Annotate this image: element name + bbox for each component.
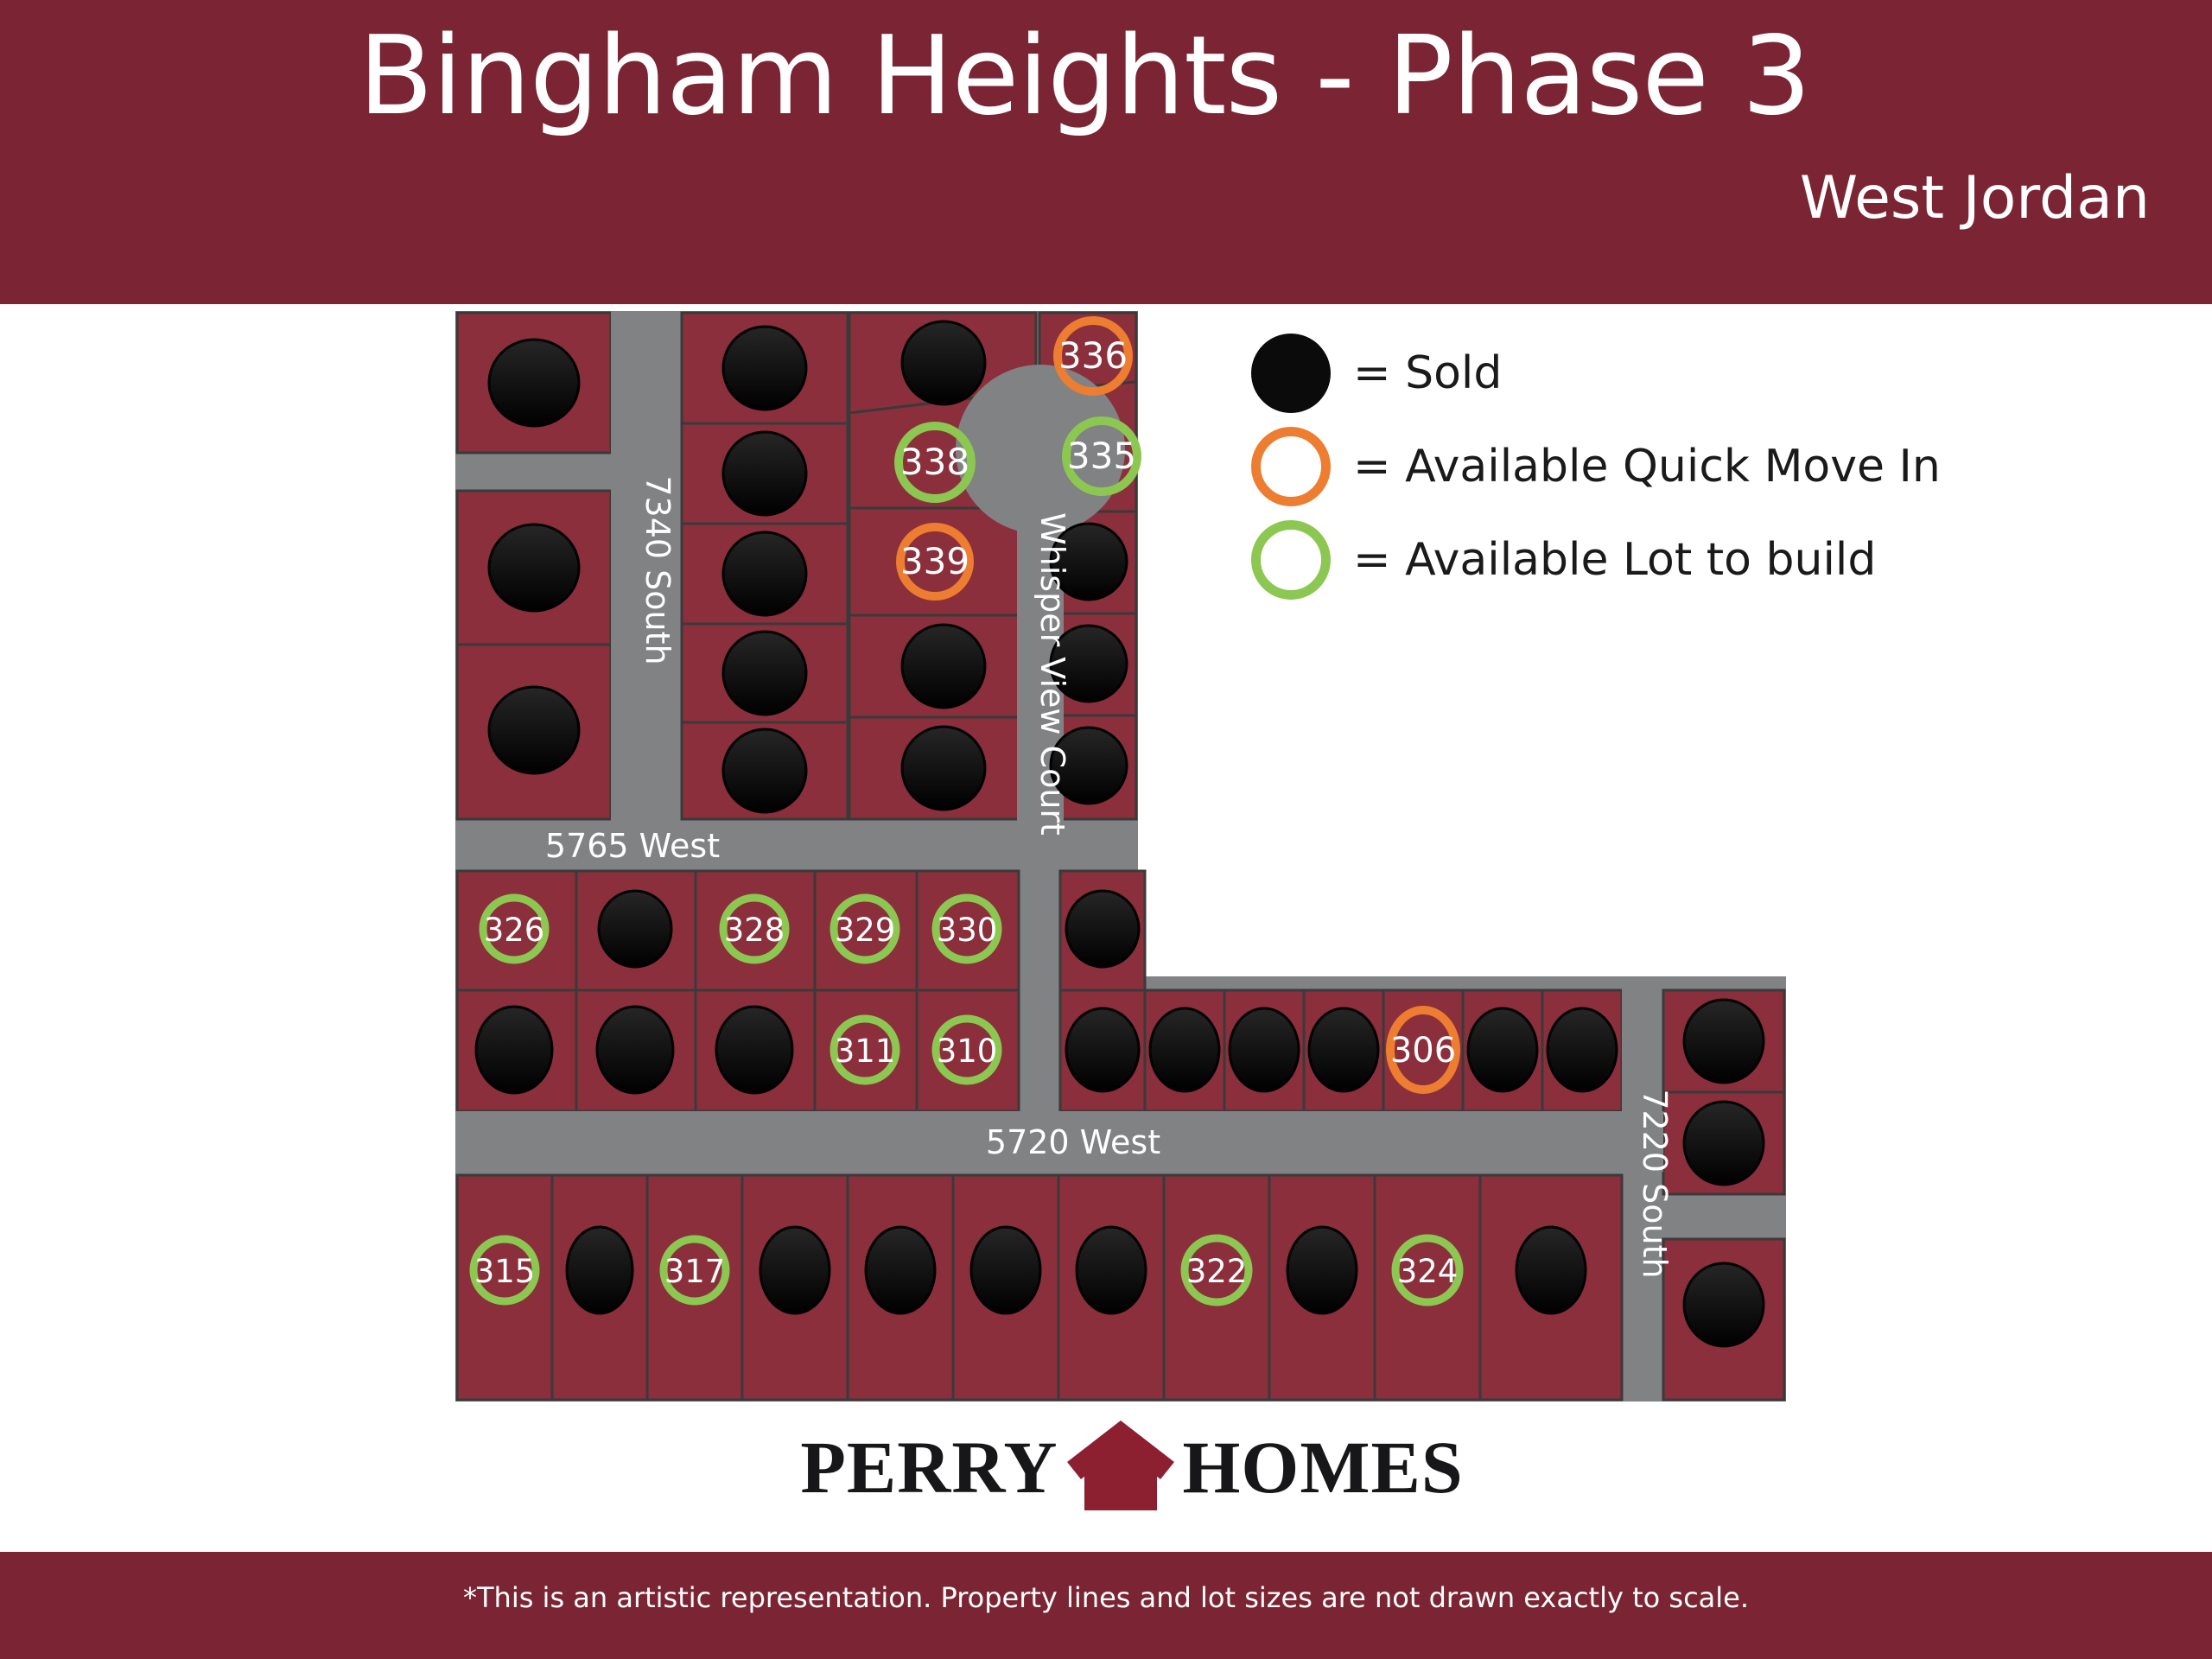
lot-marker-sold (716, 1007, 792, 1093)
lot-marker-sold (902, 321, 985, 404)
page-subtitle: West Jordan (1800, 164, 2150, 232)
lot-marker-sold (1548, 1008, 1617, 1091)
lot-label-306: 306 (1390, 1031, 1456, 1071)
page-header: Bingham Heights - Phase 3 West Jordan (0, 0, 2212, 304)
lot-marker-sold (1287, 1227, 1357, 1313)
lot-marker-sold (567, 1227, 632, 1313)
lot-label-322: 322 (1186, 1253, 1248, 1290)
logo-word-homes: HOMES (1183, 1424, 1464, 1510)
lot-marker-sold (723, 327, 806, 410)
lot-marker-sold (489, 524, 579, 611)
lot-marker-sold (723, 432, 806, 515)
lot-label-328: 328 (724, 912, 785, 949)
lot-marker-sold (1150, 1008, 1219, 1091)
lot-marker-sold (902, 625, 985, 708)
street-label-5720-west: 5720 West (986, 1123, 1160, 1161)
lot-marker-sold (1684, 1263, 1764, 1346)
lot-marker-sold (1516, 1227, 1586, 1313)
lot-marker-sold (597, 1007, 673, 1093)
lot-marker-sold (1684, 1102, 1764, 1185)
lot-marker-sold (723, 729, 806, 812)
footer-disclaimer: *This is an artistic representation. Pro… (0, 1581, 2212, 1614)
lot-marker-sold (599, 891, 671, 967)
page-footer: *This is an artistic representation. Pro… (0, 1552, 2212, 1659)
street-label-7220-south: 7220 South (1636, 1089, 1674, 1278)
lot-marker-sold (723, 632, 806, 715)
lot-label-315: 315 (474, 1253, 536, 1290)
street-label-whisper-view-court: Whisper View Court (1033, 512, 1071, 836)
lot-marker-sold (1066, 891, 1139, 967)
lot-label-336: 336 (1058, 334, 1128, 377)
lot-label-338: 338 (900, 441, 969, 483)
lot-marker-sold (1066, 1008, 1139, 1091)
lot-label-317: 317 (664, 1253, 726, 1290)
lot-marker-sold (476, 1007, 552, 1093)
site-plan-map: 338 339 336 335 326 328 329 330 311 310 … (455, 311, 1786, 1402)
lot-marker-sold (866, 1227, 935, 1313)
perry-homes-logo: PERRY HOMES (829, 1415, 1434, 1519)
lot-marker-sold (1684, 1000, 1764, 1083)
lot-label-329: 329 (835, 912, 896, 949)
logo-word-perry: PERRY (800, 1424, 1058, 1510)
house-icon (1064, 1419, 1178, 1516)
lot-label-330: 330 (937, 912, 998, 949)
page-title: Bingham Heights - Phase 3 (0, 19, 2169, 133)
lot-label-310: 310 (937, 1033, 998, 1070)
lot-marker-sold (1077, 1227, 1146, 1313)
lot-label-326: 326 (484, 912, 545, 949)
lot-marker-sold (723, 532, 806, 615)
lot-marker-sold (971, 1227, 1040, 1313)
lot-marker-sold (1468, 1008, 1537, 1091)
lot-marker-sold (902, 727, 985, 810)
lot-label-335: 335 (1067, 435, 1136, 477)
lot-label-311: 311 (835, 1033, 896, 1070)
lot-label-324: 324 (1397, 1253, 1459, 1290)
lot-marker-sold (1309, 1008, 1378, 1091)
lot-marker-sold (489, 340, 579, 426)
street-label-7340-south: 7340 South (639, 475, 677, 664)
lot-marker-sold (760, 1227, 829, 1313)
street-label-5765-west: 5765 West (545, 827, 720, 865)
lot-label-339: 339 (900, 540, 969, 582)
lot-marker-sold (489, 687, 579, 773)
lot-marker-sold (1230, 1008, 1299, 1091)
